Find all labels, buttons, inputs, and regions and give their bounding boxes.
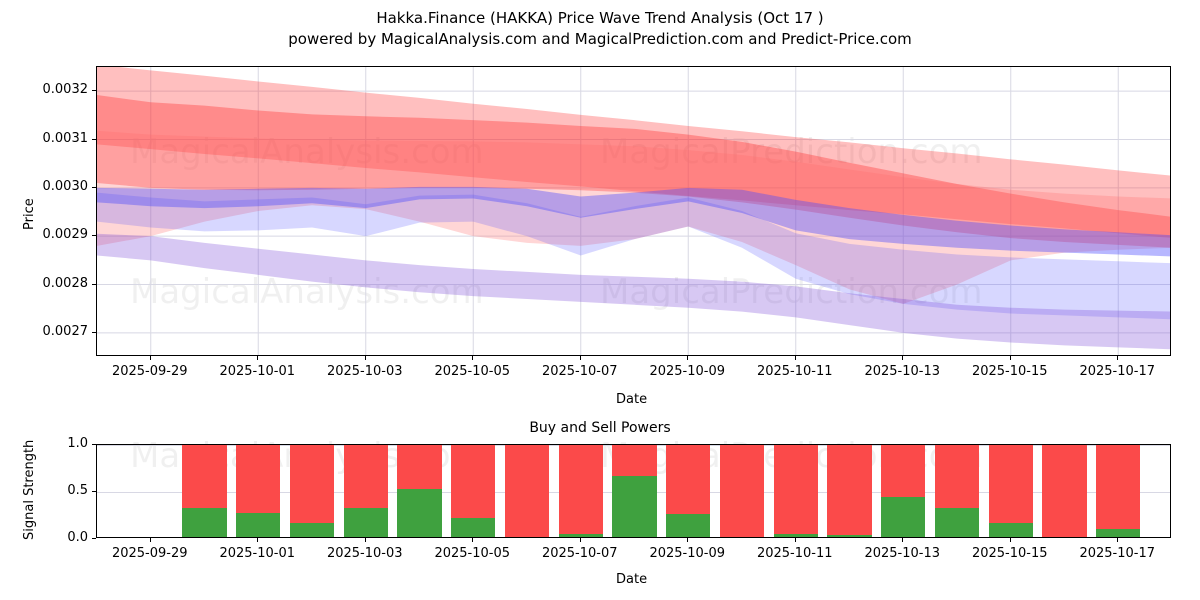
bottom-x-tickmark: [795, 538, 796, 542]
buy-power-bar[interactable]: [559, 534, 603, 538]
buy-power-bar[interactable]: [612, 476, 656, 538]
sell-power-bar[interactable]: [1042, 445, 1086, 538]
buy-power-bar[interactable]: [344, 508, 388, 538]
buy-power-bar[interactable]: [182, 508, 226, 538]
top-x-tick-label: 2025-09-29: [103, 364, 197, 379]
top-x-tick-label: 2025-10-11: [748, 364, 842, 379]
top-x-tick-label: 2025-10-15: [963, 364, 1057, 379]
top-x-tick-label: 2025-10-01: [210, 364, 304, 379]
bottom-chart-x-axis-title: Date: [616, 572, 647, 587]
sell-power-bar[interactable]: [720, 445, 764, 538]
buy-power-bar[interactable]: [451, 518, 495, 538]
bottom-x-tick-label: 2025-10-17: [1070, 546, 1164, 561]
top-y-tick-label: 0.0031: [18, 131, 88, 146]
price-wave-bands: [97, 67, 1171, 356]
bottom-y-tick-label: 1.0: [38, 436, 88, 451]
sell-power-bar[interactable]: [397, 445, 441, 489]
bottom-x-tickmark: [902, 538, 903, 542]
sell-power-bar[interactable]: [612, 445, 656, 476]
sell-power-bar[interactable]: [827, 445, 871, 535]
buy-power-bar[interactable]: [989, 523, 1033, 538]
bottom-x-tick-label: 2025-09-29: [103, 546, 197, 561]
top-x-tickmark: [902, 356, 903, 360]
bottom-x-tickmark: [257, 538, 258, 542]
buy-power-bar[interactable]: [881, 497, 925, 538]
top-x-tick-label: 2025-10-05: [425, 364, 519, 379]
sell-power-bar[interactable]: [182, 445, 226, 508]
page-title-block: Hakka.Finance (HAKKA) Price Wave Trend A…: [0, 8, 1200, 50]
sell-power-bar[interactable]: [935, 445, 979, 508]
sell-power-bar[interactable]: [290, 445, 334, 523]
top-x-tickmark: [1010, 356, 1011, 360]
bottom-x-tick-label: 2025-10-07: [533, 546, 627, 561]
sell-power-bar[interactable]: [559, 445, 603, 534]
top-x-tickmark: [150, 356, 151, 360]
bottom-x-tickmark: [472, 538, 473, 542]
bottom-x-tick-label: 2025-10-13: [855, 546, 949, 561]
bottom-x-tick-label: 2025-10-01: [210, 546, 304, 561]
sell-power-bar[interactable]: [451, 445, 495, 518]
sell-power-bar[interactable]: [989, 445, 1033, 523]
top-y-tick-label: 0.0032: [18, 82, 88, 97]
buy-power-bar[interactable]: [774, 534, 818, 538]
bottom-x-tick-label: 2025-10-05: [425, 546, 519, 561]
top-x-tick-label: 2025-10-17: [1070, 364, 1164, 379]
top-x-tickmark: [687, 356, 688, 360]
top-y-tick-label: 0.0028: [18, 276, 88, 291]
top-x-tickmark: [472, 356, 473, 360]
buy-power-bar[interactable]: [1096, 529, 1140, 538]
bottom-y-tick-label: 0.0: [38, 530, 88, 545]
bottom-x-tick-label: 2025-10-15: [963, 546, 1057, 561]
sell-power-bar[interactable]: [344, 445, 388, 508]
bottom-x-tickmark: [580, 538, 581, 542]
top-x-tickmark: [580, 356, 581, 360]
sell-power-bar[interactable]: [505, 445, 549, 538]
bottom-x-tick-label: 2025-10-09: [640, 546, 734, 561]
top-x-tick-label: 2025-10-07: [533, 364, 627, 379]
sell-power-bar[interactable]: [666, 445, 710, 514]
bottom-chart-title: Buy and Sell Powers: [0, 420, 1200, 436]
top-x-tick-label: 2025-10-09: [640, 364, 734, 379]
top-y-tick-label: 0.0030: [18, 179, 88, 194]
top-y-tick-label: 0.0029: [18, 227, 88, 242]
sell-power-bar[interactable]: [236, 445, 280, 513]
top-x-tickmark: [257, 356, 258, 360]
top-chart-y-axis-title: Price: [22, 198, 37, 230]
buy-and-sell-powers-chart: [96, 444, 1171, 538]
price-wave-trend-chart: [96, 66, 1171, 356]
bottom-chart-y-axis-title: Signal Strength: [22, 440, 37, 540]
sell-power-bar[interactable]: [774, 445, 818, 534]
sell-power-bar[interactable]: [1096, 445, 1140, 529]
bottom-x-tickmark: [1010, 538, 1011, 542]
buy-power-bar[interactable]: [666, 514, 710, 538]
bottom-x-tick-label: 2025-10-03: [318, 546, 412, 561]
page-title: Hakka.Finance (HAKKA) Price Wave Trend A…: [0, 8, 1200, 29]
buy-power-bar[interactable]: [290, 523, 334, 538]
bottom-x-tickmark: [150, 538, 151, 542]
bottom-x-tick-label: 2025-10-11: [748, 546, 842, 561]
sell-power-bar[interactable]: [881, 445, 925, 497]
top-x-tickmark: [1117, 356, 1118, 360]
top-y-tick-label: 0.0027: [18, 324, 88, 339]
top-x-tick-label: 2025-10-03: [318, 364, 412, 379]
buy-power-bar[interactable]: [397, 489, 441, 538]
page-subtitle: powered by MagicalAnalysis.com and Magic…: [0, 29, 1200, 50]
top-x-tickmark: [795, 356, 796, 360]
bottom-y-tickmark: [92, 538, 96, 539]
buy-power-bar[interactable]: [236, 513, 280, 538]
buy-power-bar[interactable]: [827, 535, 871, 538]
bottom-x-tickmark: [365, 538, 366, 542]
bottom-x-tickmark: [1117, 538, 1118, 542]
buy-power-bar[interactable]: [935, 508, 979, 538]
top-x-tickmark: [365, 356, 366, 360]
top-chart-x-axis-title: Date: [616, 392, 647, 407]
bottom-y-tick-label: 0.5: [38, 483, 88, 498]
bottom-x-tickmark: [687, 538, 688, 542]
top-x-tick-label: 2025-10-13: [855, 364, 949, 379]
